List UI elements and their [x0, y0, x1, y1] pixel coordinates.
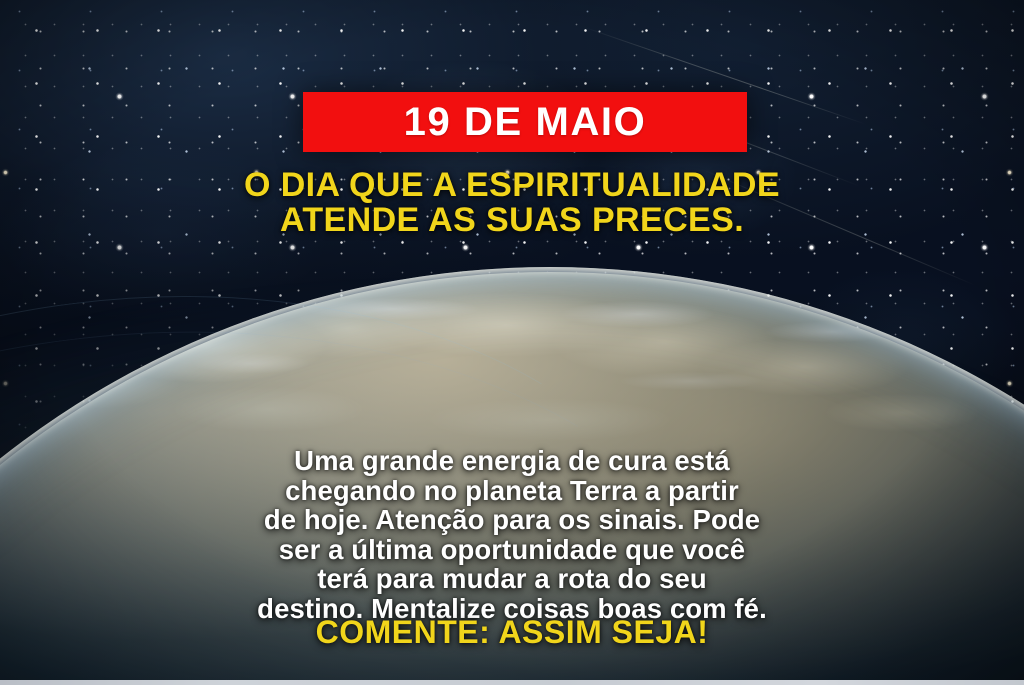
headline: O DIA QUE A ESPIRITUALIDADE ATENDE AS SU… [0, 168, 1024, 238]
body-line-5: terá para mudar a rota do seu [0, 564, 1024, 594]
body-paragraph: Uma grande energia de cura está chegando… [0, 446, 1024, 623]
body-line-3: de hoje. Atenção para os sinais. Pode [0, 505, 1024, 535]
body-line-1: Uma grande energia de cura está [0, 446, 1024, 476]
call-to-action-text: COMENTE: ASSIM SEJA! [0, 615, 1024, 649]
date-banner-label: 19 DE MAIO [404, 102, 647, 142]
body-line-4: ser a última oportunidade que você [0, 535, 1024, 565]
body-line-2: chegando no planeta Terra a partir [0, 476, 1024, 506]
date-banner: 19 DE MAIO [303, 92, 747, 152]
headline-line-1: O DIA QUE A ESPIRITUALIDADE [0, 168, 1024, 203]
headline-line-2: ATENDE AS SUAS PRECES. [0, 203, 1024, 238]
poster-content: 19 DE MAIO O DIA QUE A ESPIRITUALIDADE A… [0, 0, 1024, 685]
poster-canvas: 19 DE MAIO O DIA QUE A ESPIRITUALIDADE A… [0, 0, 1024, 685]
